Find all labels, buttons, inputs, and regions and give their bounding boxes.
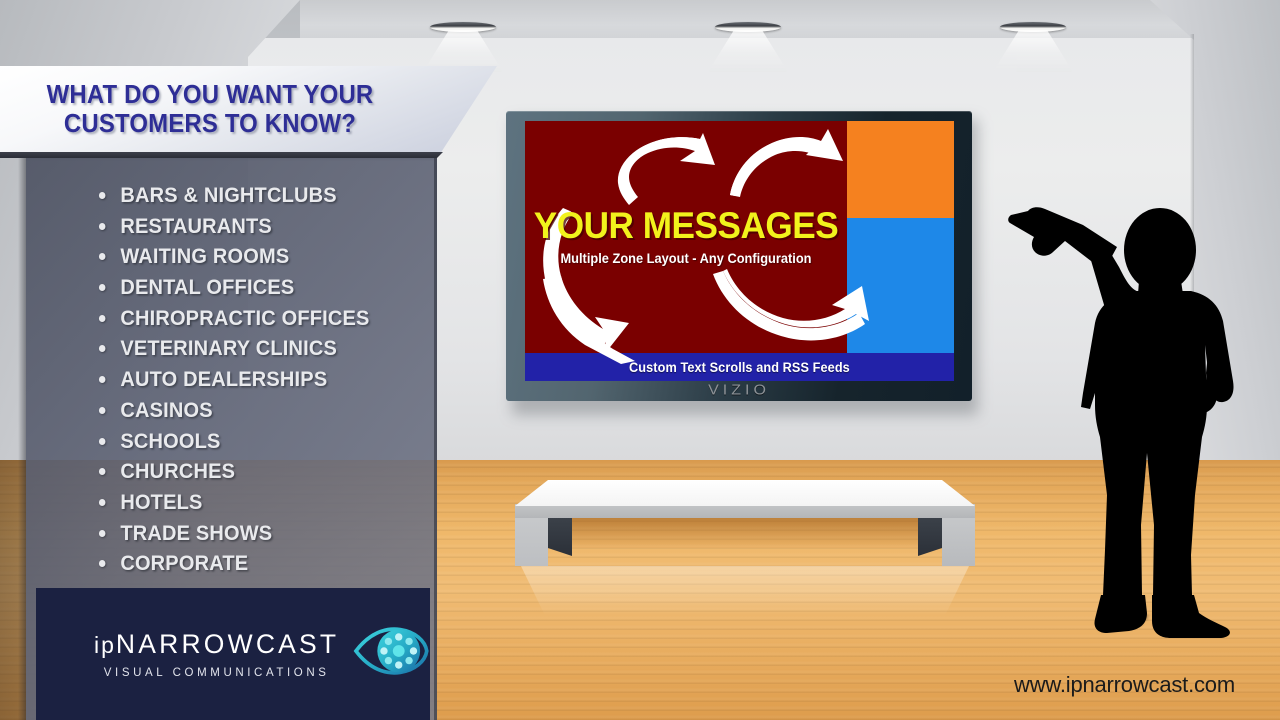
stand-top-surface — [515, 480, 975, 506]
list-item: CASINOS — [98, 400, 370, 422]
business-list: BARS & NIGHTCLUBS RESTAURANTS WAITING RO… — [98, 185, 390, 584]
stand-inner-right — [918, 518, 942, 556]
screen-subtitle: Multiple Zone Layout - Any Configuration — [533, 251, 839, 266]
screen-zone-orange — [847, 121, 954, 218]
list-item: AUTO DEALERSHIPS — [98, 369, 370, 391]
stand-reflection — [515, 566, 975, 628]
list-item: CHURCHES — [98, 461, 370, 483]
stand-front-panel — [515, 504, 975, 518]
stand-underglow — [572, 518, 918, 548]
logo-wordmark: ipNARROWCAST VISUAL COMMUNICATIONS — [94, 629, 339, 679]
list-item: BARS & NIGHTCLUBS — [98, 185, 370, 207]
list-item: WAITING ROOMS — [98, 246, 370, 268]
page-title: WHAT DO YOU WANT YOUR CUSTOMERS TO KNOW? — [17, 80, 403, 138]
list-item: CORPORATE — [98, 553, 370, 575]
businessman-silhouette — [995, 195, 1275, 645]
website-url: www.ipnarrowcast.com — [1014, 672, 1235, 698]
list-item: DENTAL OFFICES — [98, 277, 370, 299]
logo-brand-line: ipNARROWCAST — [94, 629, 339, 660]
tv-brand-label: VIZIO — [708, 383, 770, 399]
screen-message-block: YOUR MESSAGES Multiple Zone Layout - Any… — [525, 207, 847, 266]
logo-tagline: VISUAL COMMUNICATIONS — [94, 667, 339, 679]
list-item: TRADE SHOWS — [98, 523, 370, 545]
ceiling-light-icon — [1000, 22, 1066, 32]
stand-inner-left — [548, 518, 572, 556]
ceiling-light-icon — [430, 22, 496, 32]
logo-brand: NARROWCAST — [116, 629, 339, 659]
banner-bottom-edge — [0, 152, 443, 158]
eye-icon — [353, 615, 430, 687]
logo-prefix: ip — [94, 632, 116, 658]
ticker-text: Custom Text Scrolls and RSS Feeds — [629, 360, 850, 375]
list-item: VETERINARY CLINICS — [98, 338, 370, 360]
screen-ticker-bar: Custom Text Scrolls and RSS Feeds — [525, 353, 954, 381]
list-item: HOTELS — [98, 492, 370, 514]
headline-banner: WHAT DO YOU WANT YOUR CUSTOMERS TO KNOW? — [0, 66, 497, 154]
tv-brand-plate: VIZIO — [506, 381, 972, 401]
screen-zone-blue — [847, 218, 954, 353]
list-item: RESTAURANTS — [98, 216, 370, 238]
television: YOUR MESSAGES Multiple Zone Layout - Any… — [506, 111, 972, 411]
company-logo: ipNARROWCAST VISUAL COMMUNICATIONS — [36, 588, 430, 720]
tv-bezel: YOUR MESSAGES Multiple Zone Layout - Any… — [506, 111, 972, 401]
screen-title: YOUR MESSAGES — [533, 207, 839, 244]
list-item: SCHOOLS — [98, 431, 370, 453]
list-item: CHIROPRACTIC OFFICES — [98, 308, 370, 330]
tv-stand — [515, 480, 975, 585]
ceiling-light-icon — [715, 22, 781, 32]
promo-scene: YOUR MESSAGES Multiple Zone Layout - Any… — [0, 0, 1280, 720]
tv-screen: YOUR MESSAGES Multiple Zone Layout - Any… — [525, 121, 954, 381]
